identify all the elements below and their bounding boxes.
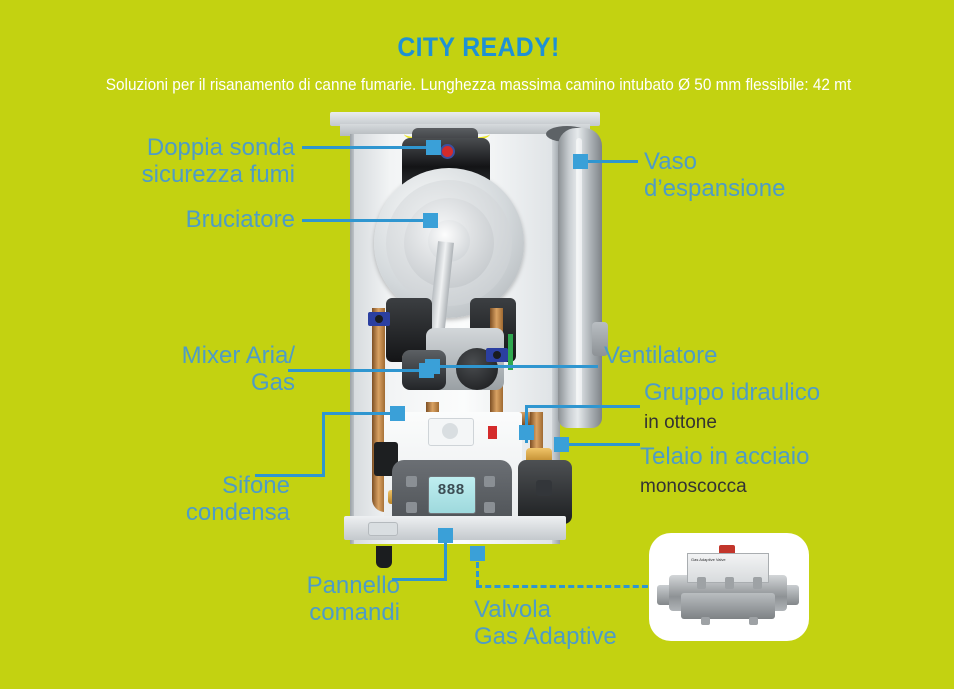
- leader-node-pannello-comandi: [438, 528, 453, 543]
- leader-line-pannello-h: [392, 578, 447, 581]
- leader-line-gruppo-h: [525, 405, 640, 408]
- page-title: CITY READY!: [38, 32, 918, 63]
- flue-safety-probe-indicator: [440, 144, 455, 159]
- callout-label-gruppo-idraulico: Gruppo idraulico: [644, 379, 934, 406]
- panel-button-down-right[interactable]: [484, 502, 495, 513]
- callout-label-telaio-acciaio: Telaio in acciaio: [640, 443, 940, 470]
- gas-valve-foot-1: [701, 617, 710, 625]
- gas-valve-nub-2: [725, 577, 734, 589]
- pump-detail: [536, 480, 552, 496]
- gas-valve-base: [681, 593, 775, 619]
- leader-line-mixer-aria-gas: [288, 369, 423, 372]
- callout-label-sifone-condensa: Sifone condensa: [100, 472, 290, 526]
- gas-valve-inset: Gas Adaptive Valve: [649, 533, 809, 641]
- callout-label-ventilatore: Ventilatore: [604, 342, 864, 369]
- leader-line-vaso-espansione: [588, 160, 638, 163]
- callout-label-vaso-espansione: Vaso d’espansione: [644, 148, 904, 202]
- leader-node-telaio-acciaio: [554, 437, 569, 452]
- leader-line-ventilatore: [440, 365, 598, 368]
- leader-node-vaso-espansione: [573, 154, 588, 169]
- leader-line-telaio: [568, 443, 640, 446]
- bottom-tray-opening: [368, 522, 398, 536]
- boiler-illustration: 888: [330, 112, 600, 537]
- leader-node-gruppo-idraulico: [519, 425, 534, 440]
- lcd-display-value: 888: [428, 482, 474, 499]
- leader-line-bruciatore: [302, 219, 427, 222]
- infographic-canvas: CITY READY! Soluzioni per il risanamento…: [0, 0, 957, 689]
- condensate-drain-nozzle: [376, 546, 392, 568]
- callout-note-telaio-acciaio: monoscocca: [640, 476, 890, 498]
- callout-label-mixer-aria-gas: Mixer Aria/ Gas: [100, 342, 295, 396]
- pipe-clip-right-dot: [493, 351, 501, 359]
- control-box-vent-hole: [442, 423, 458, 439]
- leader-line-pannello-v: [444, 538, 447, 580]
- leader-node-doppia-sonda: [426, 140, 441, 155]
- panel-button-down-left[interactable]: [406, 502, 417, 513]
- leader-dash-valvola-v: [476, 562, 479, 586]
- gas-valve-foot-2: [749, 617, 758, 625]
- leader-dash-valvola-h: [476, 585, 648, 588]
- leader-line-sifone-h1: [255, 474, 325, 477]
- leader-line-sifone-v: [322, 412, 325, 475]
- gas-valve-nameplate-text: Gas Adaptive Valve: [691, 557, 763, 562]
- page-subtitle: Soluzioni per il risanamento di canne fu…: [33, 76, 923, 95]
- panel-button-up-left[interactable]: [406, 476, 417, 487]
- leader-node-bruciatore: [423, 213, 438, 228]
- callout-label-pannello-comandi: Pannello comandi: [200, 572, 400, 626]
- callout-label-bruciatore: Bruciatore: [60, 206, 295, 233]
- leader-line-doppia-sonda: [302, 146, 430, 149]
- leader-node-sifone-condensa: [390, 406, 405, 421]
- callout-note-gruppo-idraulico: in ottone: [644, 412, 894, 434]
- callout-label-doppia-sonda: Doppia sonda sicurezza fumi: [40, 134, 295, 188]
- reset-button-red: [488, 426, 497, 439]
- panel-button-up-right[interactable]: [484, 476, 495, 487]
- gas-valve-nub-1: [697, 577, 706, 589]
- pipe-clip-left-dot: [375, 315, 383, 323]
- gas-valve-nub-3: [753, 577, 762, 589]
- leader-node-valvola-gas: [470, 546, 485, 561]
- leader-line-sifone-h2: [322, 412, 394, 415]
- leader-node-ventilatore: [425, 359, 440, 374]
